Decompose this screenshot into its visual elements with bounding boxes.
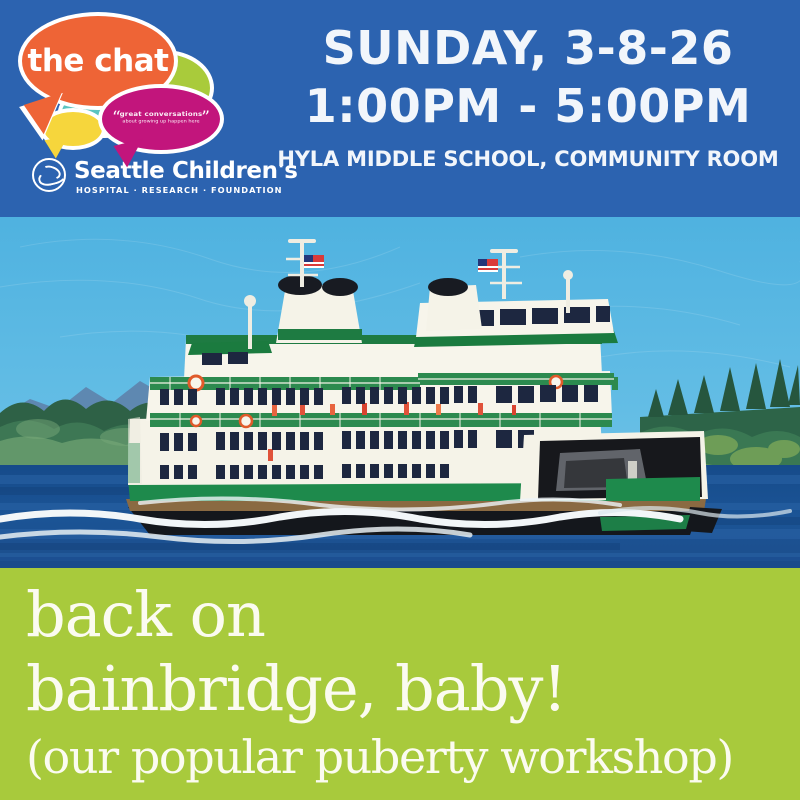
event-poster: the chat “ ” great conversations about g… <box>0 0 800 800</box>
event-date: SUNDAY, 3-8-26 <box>268 20 788 76</box>
event-time: 1:00PM - 5:00PM <box>268 78 788 134</box>
poster-header: the chat “ ” great conversations about g… <box>0 0 800 217</box>
footer-headline-line2: bainbridge, baby! <box>26 652 566 725</box>
funnel-aft-cap <box>428 278 468 296</box>
brand-tagline-line2: about growing up happen here <box>102 119 220 125</box>
organization-name: Seattle Children's <box>74 158 298 184</box>
ferry-illustration-svg <box>0 217 800 568</box>
organization-subtitle: HOSPITAL · RESEARCH · FOUNDATION <box>76 185 283 195</box>
ferry-artwork <box>0 217 800 568</box>
brand-name: the chat <box>22 43 174 79</box>
funnel-forward-cap2 <box>322 278 358 296</box>
the-chat-logo: the chat “ ” great conversations about g… <box>14 8 224 153</box>
american-flag-forward <box>304 255 324 268</box>
speech-bubble-magenta-icon: “ ” great conversations about growing up… <box>98 84 224 154</box>
brand-tagline: great conversations about growing up hap… <box>102 111 220 126</box>
branding-block: the chat “ ” great conversations about g… <box>14 8 264 208</box>
footer-subhead: (our popular puberty workshop) <box>26 730 733 784</box>
american-flag-aft <box>478 259 498 272</box>
event-venue: HYLA MIDDLE SCHOOL, COMMUNITY ROOM <box>268 146 788 172</box>
poster-footer: back on bainbridge, baby! (our popular p… <box>0 568 800 800</box>
event-details: SUNDAY, 3-8-26 1:00PM - 5:00PM HYLA MIDD… <box>268 14 788 172</box>
seattle-childrens-mark-icon <box>32 158 66 192</box>
stern-green <box>606 477 700 501</box>
funnel-forward-band <box>278 329 362 340</box>
brand-tagline-line1: great conversations <box>120 111 203 118</box>
footer-headline-line1: back on <box>26 578 265 651</box>
